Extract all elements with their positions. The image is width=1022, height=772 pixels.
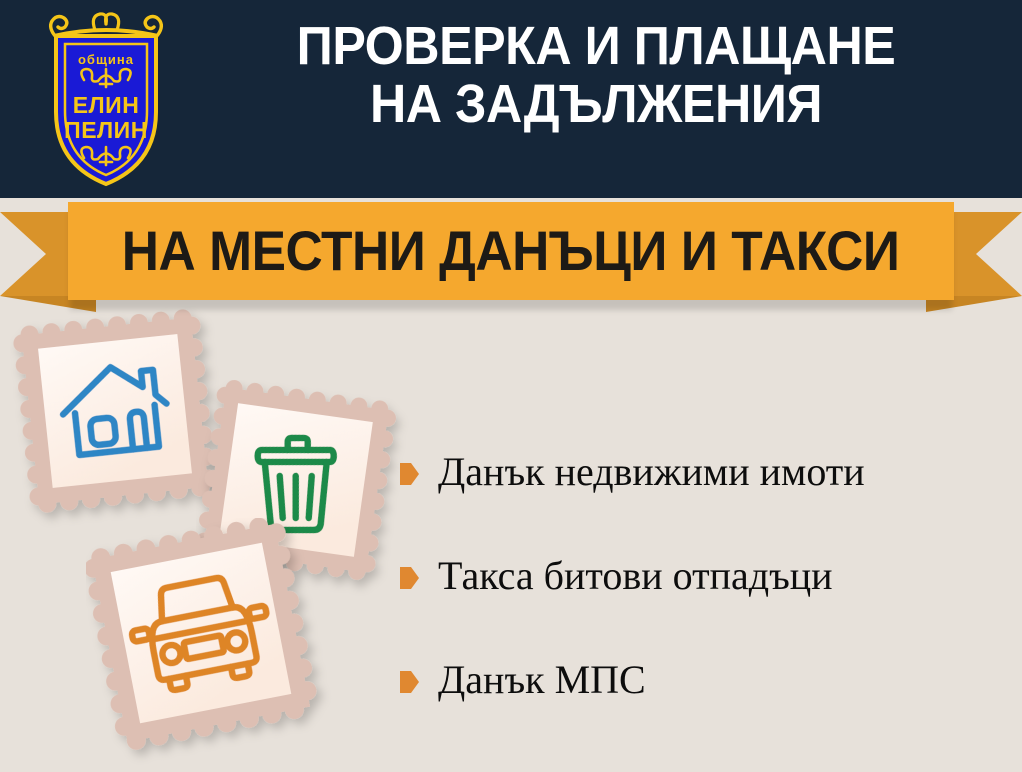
list-item[interactable]: Данък МПС xyxy=(400,628,1010,732)
tax-type-list: Данък недвижими имоти Такса битови отпад… xyxy=(400,420,1010,732)
svg-text:ПЕЛИН: ПЕЛИН xyxy=(64,117,148,143)
page-title-line1: ПРОВЕРКА И ПЛАЩАНЕ xyxy=(297,16,896,76)
list-item-label: Данък МПС xyxy=(438,657,646,703)
coat-of-arms-logo: община ЕЛИН ПЕЛИН xyxy=(38,8,174,190)
elin-pelin-coat-of-arms-icon: община ЕЛИН ПЕЛИН xyxy=(38,8,174,190)
list-item[interactable]: Такса битови отпадъци xyxy=(400,524,1010,628)
ribbon-label: НА МЕСТНИ ДАНЪЦИ И ТАКСИ xyxy=(122,222,900,280)
stamp-vehicle-graphic xyxy=(86,518,336,768)
svg-text:община: община xyxy=(78,52,134,67)
list-item-label: Данък недвижими имоти xyxy=(438,449,865,495)
bullet-arrow-icon xyxy=(400,567,419,589)
poster-root: община ЕЛИН ПЕЛИН ПРОВЕРКА И П xyxy=(0,0,1022,772)
bullet-arrow-icon xyxy=(400,671,419,693)
ribbon-banner: НА МЕСТНИ ДАНЪЦИ И ТАКСИ xyxy=(68,202,954,300)
page-title-line2: НА ЗАДЪЛЖЕНИЯ xyxy=(215,75,978,133)
svg-text:ЕЛИН: ЕЛИН xyxy=(73,92,140,118)
page-title: ПРОВЕРКА И ПЛАЩАНЕ НА ЗАДЪЛЖЕНИЯ xyxy=(215,17,978,133)
list-item[interactable]: Данък недвижими имоти xyxy=(400,420,1010,524)
list-item-label: Такса битови отпадъци xyxy=(438,553,833,599)
trash-bin-icon xyxy=(258,438,334,530)
bullet-arrow-icon xyxy=(400,463,419,485)
stamp-vehicle xyxy=(86,518,336,772)
subtitle-ribbon: НА МЕСТНИ ДАНЪЦИ И ТАКСИ xyxy=(0,200,1022,310)
stamp-collage xyxy=(0,296,420,772)
